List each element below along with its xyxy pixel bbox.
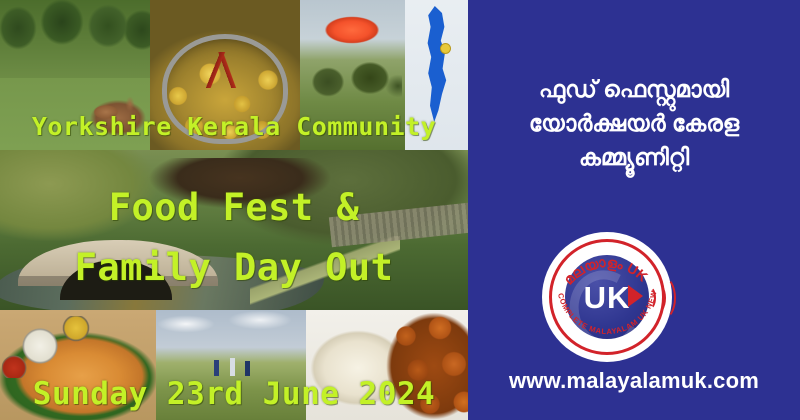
malayalam-headline-line-1: ഫുഡ് ഫെസ്റ്റുമായി <box>468 72 800 106</box>
malayalam-headline-line-2: യോർക്ഷയർ കേരള <box>468 106 800 140</box>
speaker-icon <box>628 285 643 307</box>
malayalam-headline-line-3: കമ്മ്യൂണിറ്റി <box>468 140 800 174</box>
sound-wave-icon-3 <box>650 276 676 320</box>
event-poster: Yorkshire Kerala Community Food Fest & F… <box>0 0 800 420</box>
malayalam-uk-logo: മലയാളം UK A COMPLETE MALAYALAM UK NEWS U… <box>542 232 672 362</box>
website-url[interactable]: www.malayalamuk.com <box>468 368 800 394</box>
photo-collage: Yorkshire Kerala Community Food Fest & F… <box>0 0 468 420</box>
event-title-line-1: Food Fest & <box>0 186 468 230</box>
event-date: Sunday 23rd June 2024 <box>0 375 468 413</box>
event-title-line-2: Family Day Out <box>0 246 468 290</box>
organisation-name: Yorkshire Kerala Community <box>0 112 468 142</box>
malayalam-headline: ഫുഡ് ഫെസ്റ്റുമായി യോർക്ഷയർ കേരള കമ്മ്യൂണ… <box>468 72 800 174</box>
